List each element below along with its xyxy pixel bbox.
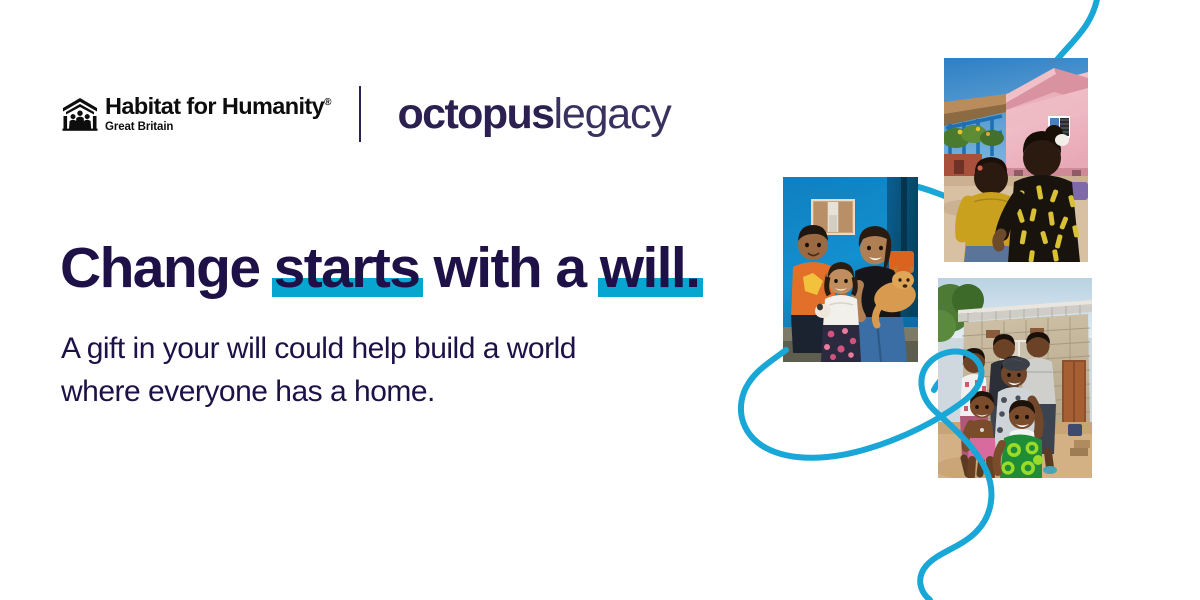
subcopy-line-1: A gift in your will could help build a w… [61, 328, 701, 371]
photo-block-house: Family group of adults and children stan… [938, 278, 1092, 478]
marketing-banner: Smiling mother with a boy, a young girl … [0, 0, 1200, 600]
octopus-wordmark-light: legacy [554, 93, 671, 136]
habitat-house-mark-icon [62, 97, 98, 131]
headline-segment-plain: Change [60, 236, 274, 300]
habitat-wordmark: Habitat for Humanity® Great Britain [105, 95, 331, 134]
logo-lockup: Habitat for Humanity® Great Britain octo… [62, 86, 671, 142]
octopus-legacy-logo[interactable]: octopuslegacy [397, 93, 670, 136]
headline: Change starts with a will. [60, 238, 699, 298]
photo-block-house-scene [938, 278, 1092, 478]
registered-trademark-symbol: ® [324, 97, 331, 108]
habitat-region: Great Britain [105, 121, 331, 134]
photo-pink-house: Woman and child seen from behind looking… [944, 58, 1088, 262]
headline-segment-plain-2: with a [419, 236, 599, 300]
photo-family-blue-house-scene [783, 177, 918, 362]
photo-pink-house-scene [944, 58, 1088, 262]
headline-segment-text: starts [274, 236, 420, 300]
logo-divider [359, 86, 361, 142]
headline-highlight-will: will. [600, 238, 700, 298]
headline-segment-text: will. [600, 236, 700, 300]
photo-family-blue-house: Smiling mother with a boy, a young girl … [783, 177, 918, 362]
octopus-wordmark-bold: octopus [397, 93, 553, 136]
subcopy-line-2: where everyone has a home. [61, 371, 701, 414]
subcopy: A gift in your will could help build a w… [61, 328, 701, 413]
habitat-name-text: Habitat for Humanity [105, 93, 324, 119]
habitat-for-humanity-logo[interactable]: Habitat for Humanity® Great Britain [62, 95, 331, 134]
habitat-name: Habitat for Humanity® [105, 95, 331, 119]
headline-highlight-starts: starts [274, 238, 420, 298]
